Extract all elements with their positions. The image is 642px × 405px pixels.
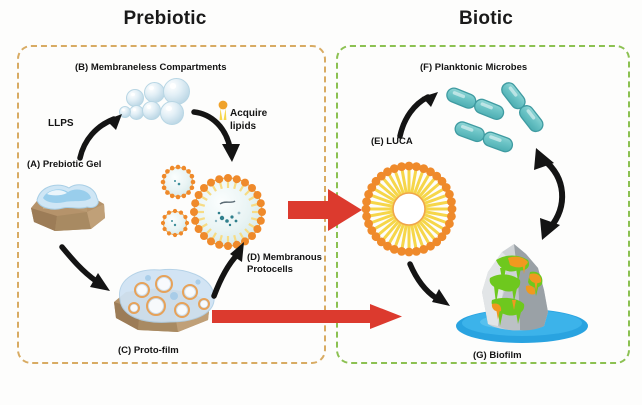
red-arrow-protocells-to-luca	[288, 188, 364, 232]
label-prebiotic-gel: (A) Prebiotic Gel	[27, 159, 101, 171]
section-title-biotic: Biotic	[330, 8, 642, 30]
label-membraneless-compartments: (B) Membraneless Compartments	[75, 62, 227, 74]
label-llps: LLPS	[48, 118, 74, 130]
arrow-luca-to-biofilm	[406, 260, 458, 312]
red-arrow-protofilm-to-biofilm	[212, 302, 404, 330]
luca-liposome-icon	[360, 160, 458, 258]
label-proto-film: (C) Proto-film	[118, 345, 179, 357]
section-title-prebiotic: Prebiotic	[0, 8, 330, 30]
label-membranous-protocells: (D) Membranous Protocells	[247, 252, 322, 276]
arrow-microbes-biofilm-bidirectional	[524, 144, 594, 244]
label-planktonic-microbes: (F) Planktonic Microbes	[420, 62, 527, 74]
arrow-luca-to-microbes	[394, 86, 446, 140]
label-luca: (E) LUCA	[371, 136, 413, 148]
rock-icon	[25, 176, 110, 238]
figure-canvas: Prebiotic Biotic	[0, 0, 642, 405]
label-biofilm: (G) Biofilm	[473, 350, 522, 362]
biofilm-rock-icon	[452, 238, 592, 348]
arrow-llps	[74, 108, 130, 160]
label-acquire-lipids: Acquire lipids	[230, 107, 267, 133]
lipid-droplet-icon	[215, 100, 231, 124]
arrow-gel-to-protofilm	[58, 243, 120, 301]
